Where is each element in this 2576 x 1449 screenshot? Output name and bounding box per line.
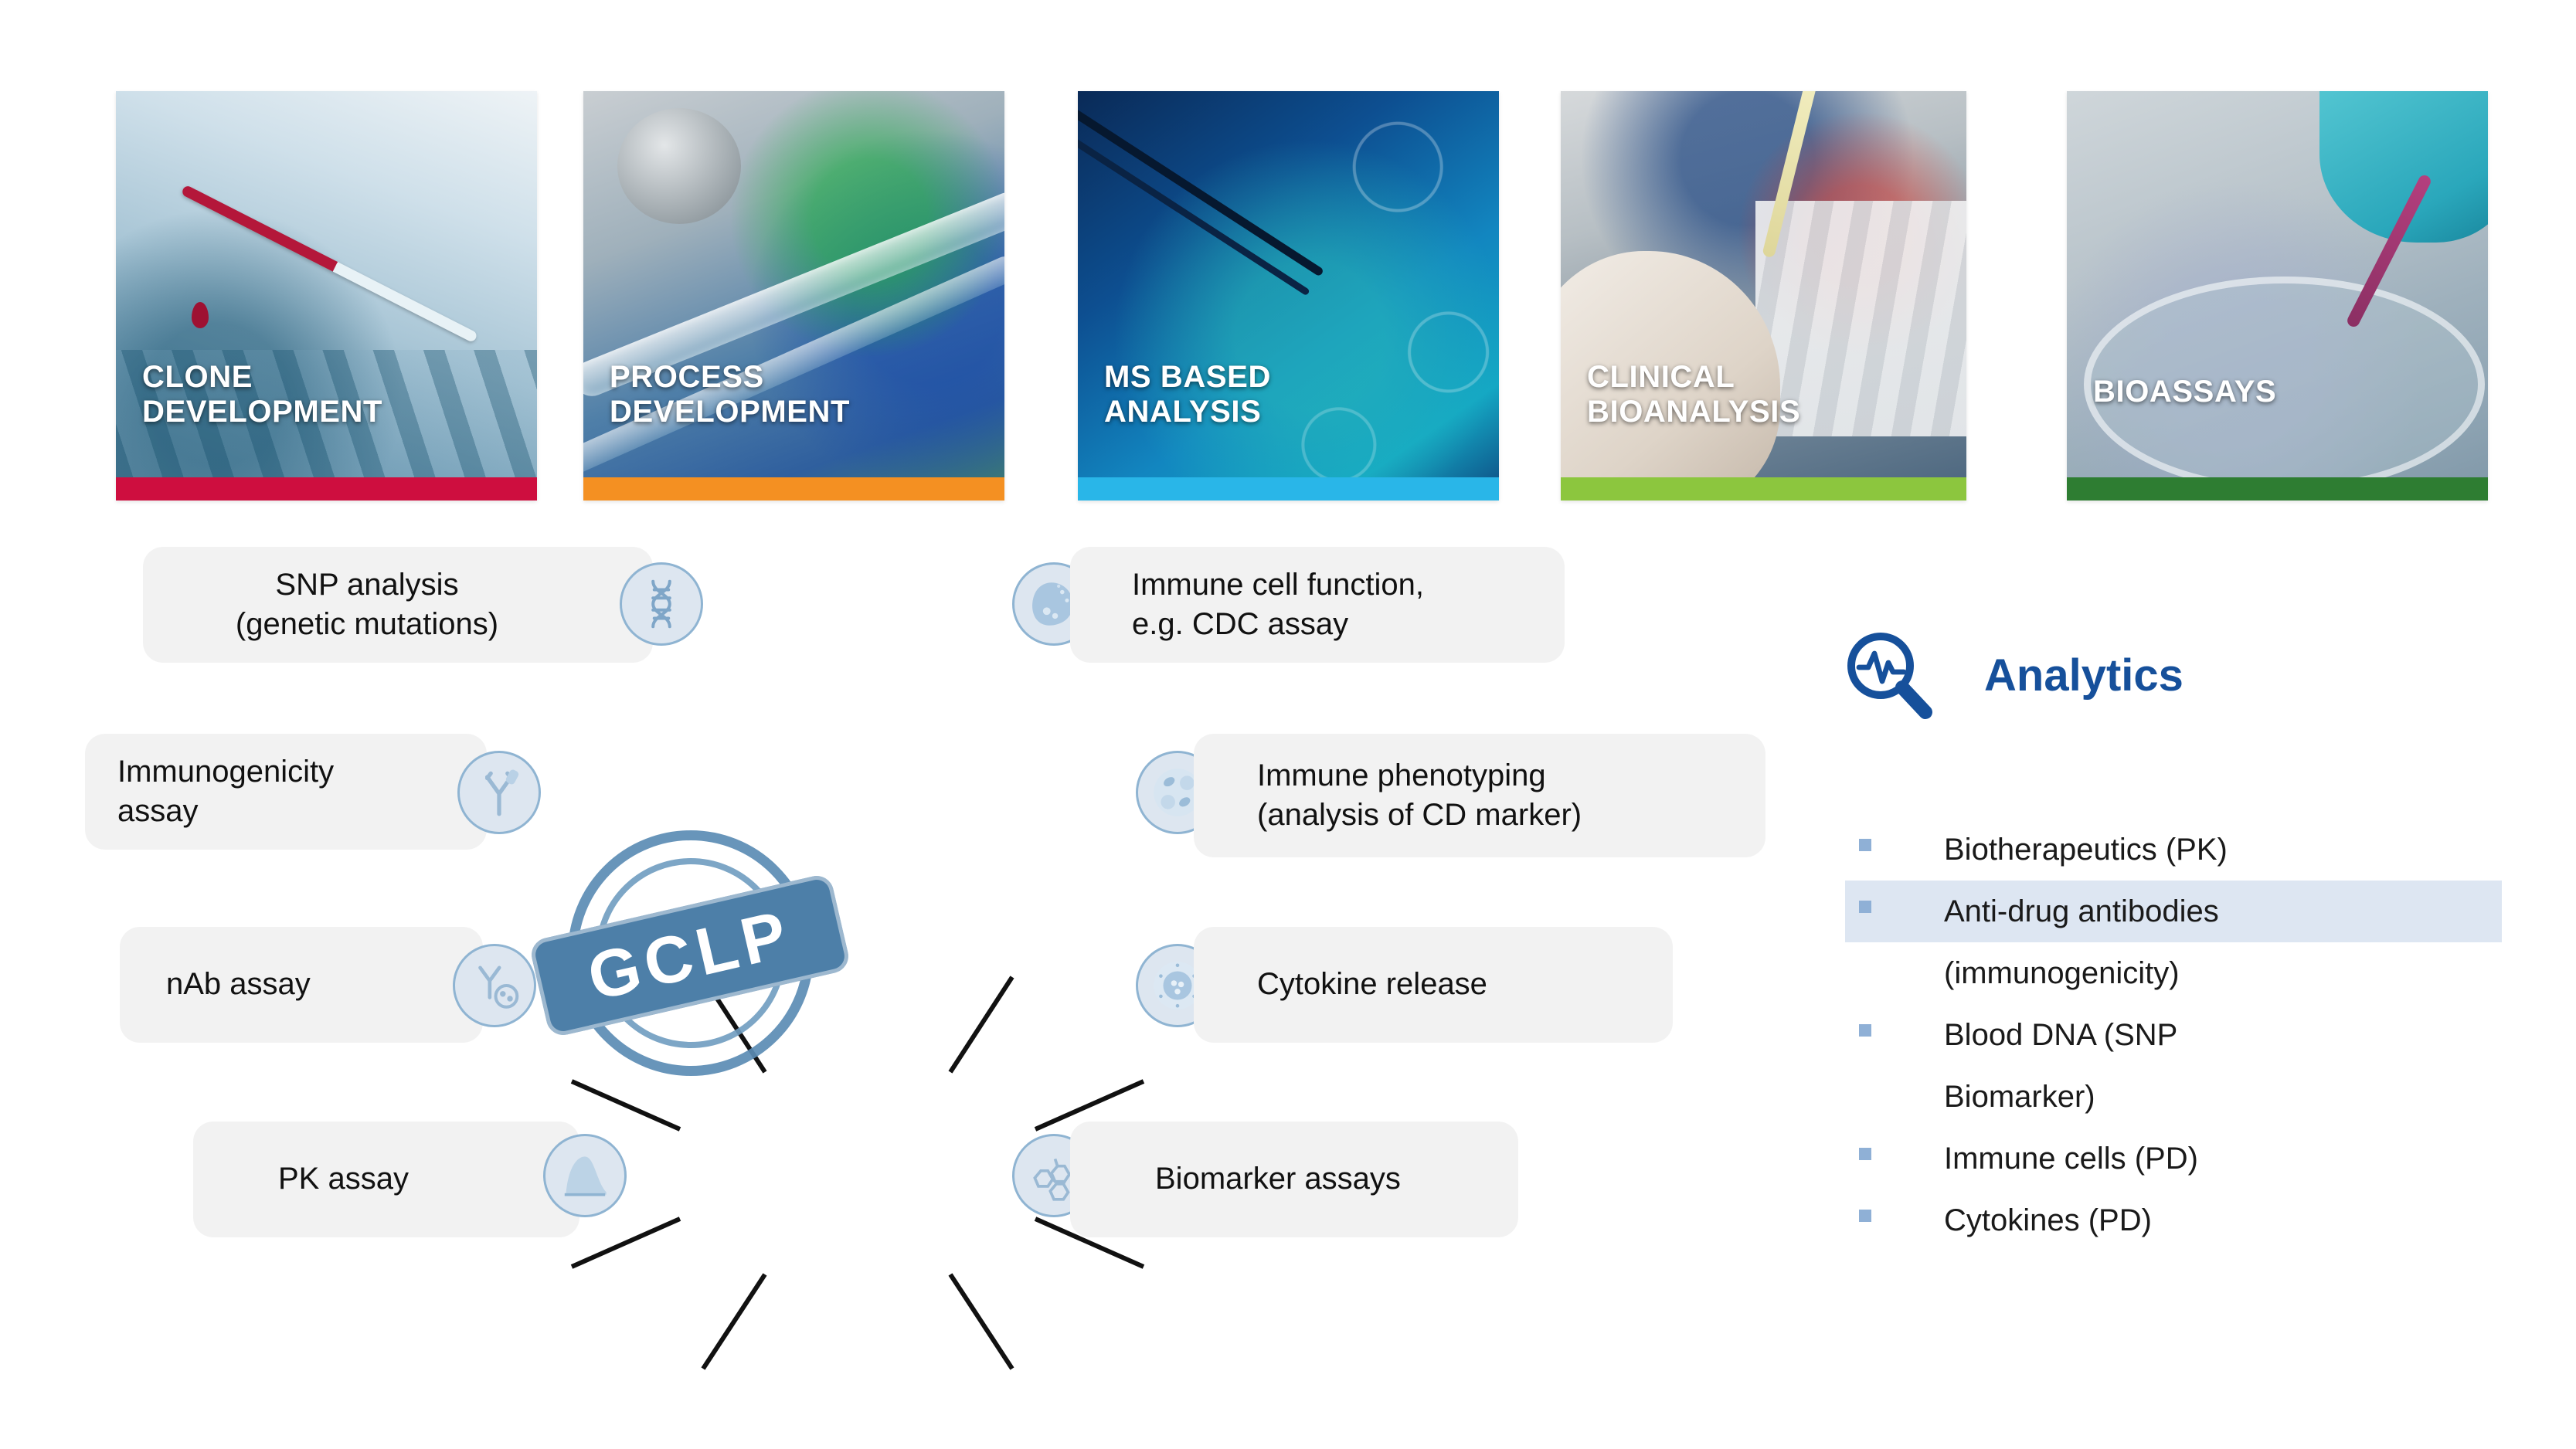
card-photo [116, 91, 537, 501]
pk-curve-icon [543, 1134, 627, 1217]
node-cytokine-release[interactable]: Cytokine release [1194, 927, 1673, 1043]
list-item-label: Cytokines (PD) [1944, 1203, 2152, 1237]
card-title: PROCESS DEVELOPMENT [610, 360, 850, 429]
node-biomarker-assays[interactable]: Biomarker assays [1070, 1122, 1518, 1237]
list-item-label: Blood DNA (SNP [1944, 1018, 2177, 1052]
list-item-label: Biomarker) [1944, 1080, 2095, 1114]
card-photo [1561, 91, 1966, 501]
card-title: BIOASSAYS [2093, 375, 2276, 409]
antibody-antigen-icon [453, 944, 536, 1027]
bullet-square-icon [1859, 1148, 1871, 1160]
gclp-capability-diagram: GCLP SNP analysis (genetic mutations) Im… [0, 541, 1762, 1449]
analytics-header: Analytics [1839, 626, 2183, 724]
list-item-label: (immunogenicity) [1944, 956, 2180, 990]
node-pk-assay[interactable]: PK assay [193, 1122, 579, 1237]
analytics-panel: Analytics Biotherapeutics (PK) Anti-drug… [1839, 626, 2503, 1406]
node-label: SNP analysis (genetic mutations) [174, 565, 560, 644]
card-accent-bar [1561, 477, 1966, 501]
card-accent-bar [116, 477, 537, 501]
card-clinical-bioanalysis[interactable]: CLINICAL BIOANALYSIS [1561, 91, 1966, 501]
card-bioassays[interactable]: BIOASSAYS [2067, 91, 2488, 501]
node-label: Immune cell function, e.g. CDC assay [1132, 565, 1424, 644]
bullet-square-icon [1859, 839, 1871, 851]
card-process-development[interactable]: PROCESS DEVELOPMENT [583, 91, 1004, 501]
card-accent-bar [1078, 477, 1499, 501]
list-item[interactable]: Immune cells (PD) [1845, 1128, 2502, 1189]
analytics-list: Biotherapeutics (PK) Anti-drug antibodie… [1845, 819, 2502, 1251]
card-accent-bar [583, 477, 1004, 501]
node-immune-cell-function[interactable]: Immune cell function, e.g. CDC assay [1070, 547, 1565, 663]
node-label: Immunogenicity assay [117, 752, 334, 831]
bullet-square-icon [1859, 901, 1871, 913]
list-item-continuation: Biomarker) [1845, 1066, 2502, 1128]
antibody-icon [457, 751, 541, 834]
magnifier-pulse-icon [1839, 626, 1938, 724]
node-label: PK assay [278, 1159, 409, 1199]
card-photo [2067, 91, 2488, 501]
card-ms-based-analysis[interactable]: MS BASED ANALYSIS [1078, 91, 1499, 501]
card-photo [1078, 91, 1499, 501]
gclp-stamp: GCLP [545, 823, 838, 1085]
list-item[interactable]: Biotherapeutics (PK) [1845, 819, 2502, 881]
capability-card-strip: CLONE DEVELOPMENT PROCESS DEVELOPMENT MS… [0, 0, 2576, 541]
card-photo [583, 91, 1004, 501]
card-clone-development[interactable]: CLONE DEVELOPMENT [116, 91, 537, 501]
list-item-label: Anti-drug antibodies [1944, 894, 2219, 928]
analytics-title: Analytics [1984, 650, 2183, 701]
list-item[interactable]: Blood DNA (SNP [1845, 1004, 2502, 1066]
list-item[interactable]: Cytokines (PD) [1845, 1189, 2502, 1251]
node-label: Immune phenotyping (analysis of CD marke… [1257, 756, 1582, 835]
dna-icon [620, 562, 703, 646]
node-label: Biomarker assays [1155, 1159, 1401, 1199]
bullet-square-icon [1859, 1024, 1871, 1037]
node-label: Cytokine release [1257, 965, 1487, 1004]
card-title: CLONE DEVELOPMENT [142, 360, 382, 429]
card-title: MS BASED ANALYSIS [1104, 360, 1271, 429]
list-item[interactable]: Anti-drug antibodies [1845, 881, 2502, 942]
list-item-label: Immune cells (PD) [1944, 1142, 2198, 1176]
bullet-square-icon [1859, 1210, 1871, 1222]
card-title: CLINICAL BIOANALYSIS [1587, 360, 1800, 429]
node-nab-assay[interactable]: nAb assay [120, 927, 483, 1043]
card-accent-bar [2067, 477, 2488, 501]
list-item-continuation: (immunogenicity) [1845, 942, 2502, 1004]
node-snp-analysis[interactable]: SNP analysis (genetic mutations) [143, 547, 653, 663]
node-immunogenicity-assay[interactable]: Immunogenicity assay [85, 734, 487, 850]
node-label: nAb assay [166, 965, 311, 1004]
node-immune-phenotyping[interactable]: Immune phenotyping (analysis of CD marke… [1194, 734, 1765, 857]
list-item-label: Biotherapeutics (PK) [1944, 833, 2228, 867]
